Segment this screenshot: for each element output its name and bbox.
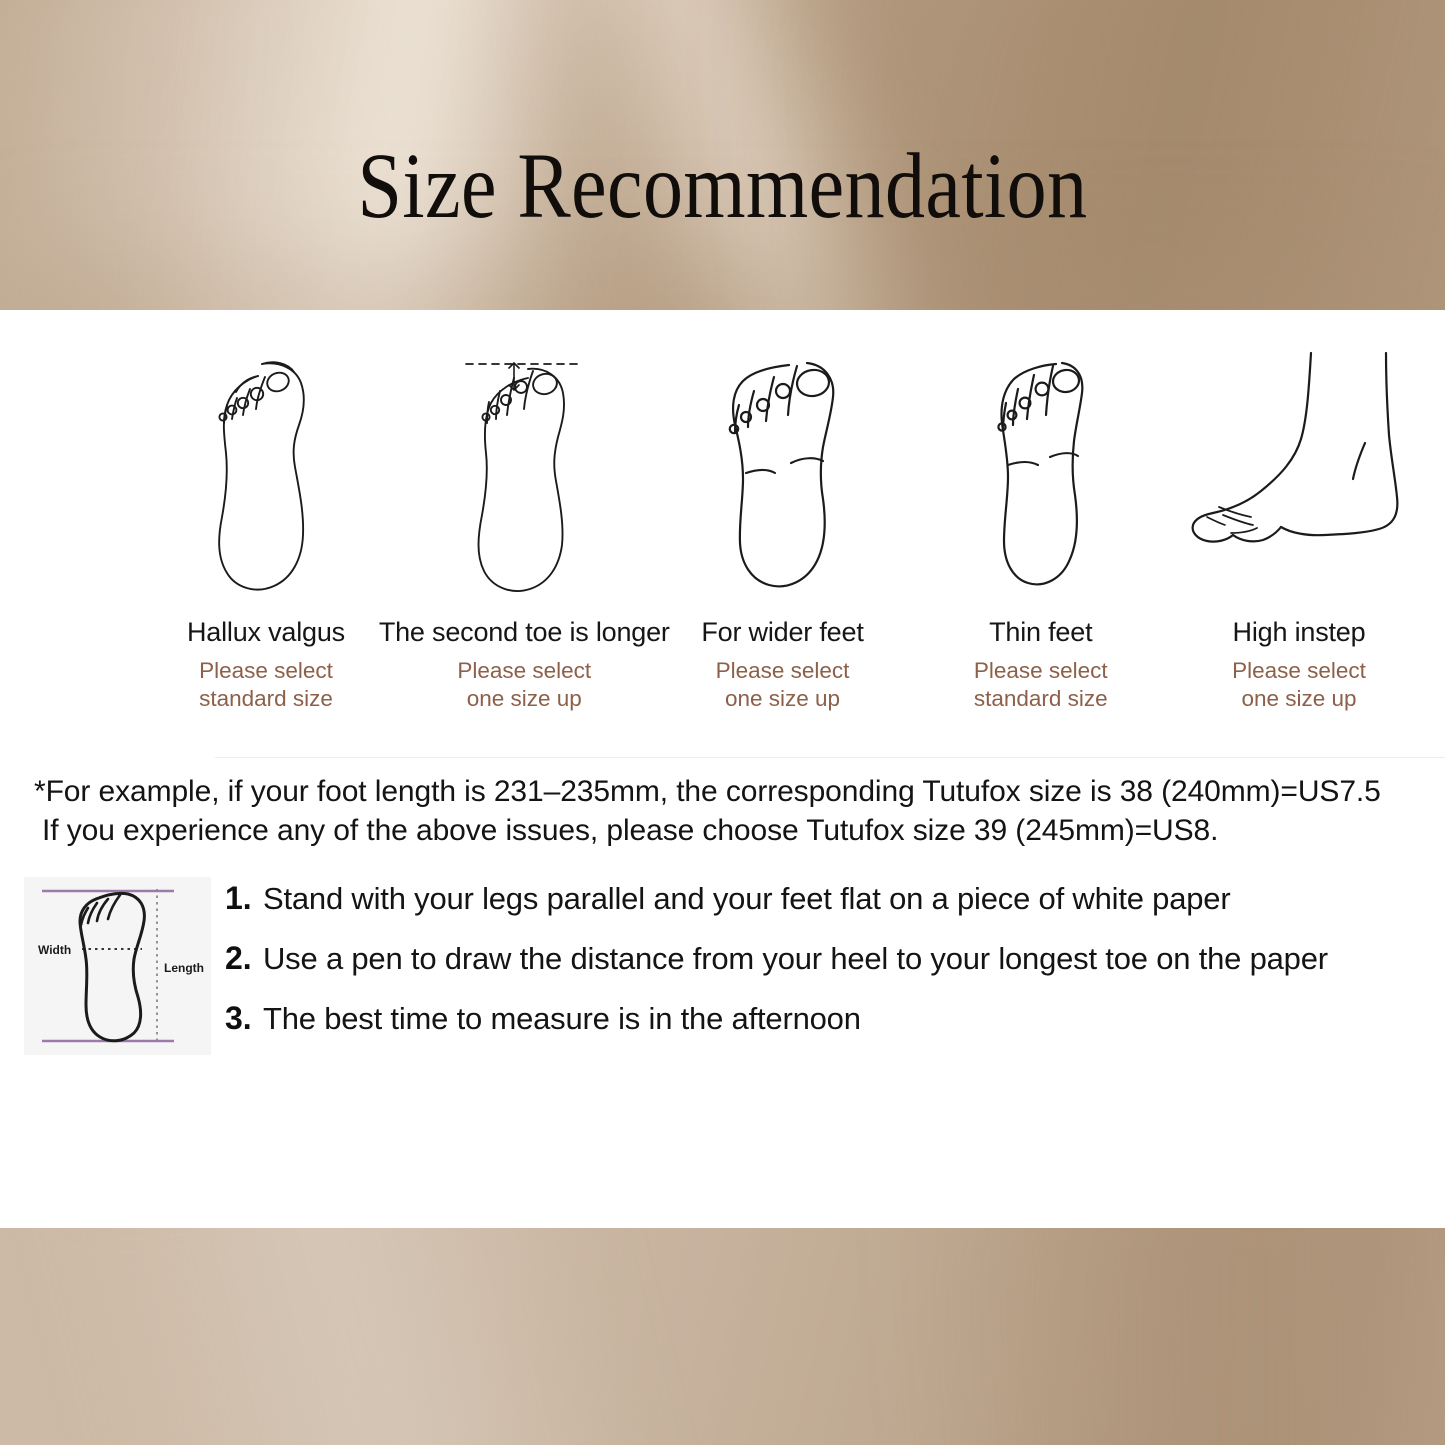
advice-line-2: one size up	[725, 686, 840, 711]
foot-type-advice: Please select standard size	[974, 657, 1108, 713]
footprint-hallux-valgus-icon	[200, 345, 332, 595]
footprint-wide-icon	[713, 345, 853, 595]
foot-type-list: Hallux valgus Please select standard siz…	[150, 345, 1415, 713]
foot-type-second-toe-longer: The second toe is longer Please select o…	[408, 345, 640, 713]
foot-side-profile-high-instep-icon	[1183, 345, 1415, 595]
example-line-1: *For example, if your foot length is 231…	[34, 772, 1424, 811]
foot-type-advice: Please select one size up	[457, 657, 591, 713]
step-item: 3. The best time to measure is in the af…	[225, 1000, 1415, 1038]
width-label: Width	[38, 943, 71, 957]
foot-type-advice: Please select standard size	[199, 657, 333, 713]
foot-type-advice: Please select one size up	[1232, 657, 1366, 713]
advice-line-2: one size up	[1241, 686, 1356, 711]
foot-type-title: High instep	[1233, 617, 1366, 648]
foot-type-thin-feet: Thin feet Please select standard size	[925, 345, 1157, 713]
footprint-second-toe-longer-icon	[458, 345, 590, 595]
example-line-2: If you experience any of the above issue…	[34, 811, 1424, 850]
example-note: *For example, if your foot length is 231…	[34, 772, 1424, 850]
foot-type-title: For wider feet	[701, 617, 863, 648]
step-number: 2.	[225, 940, 263, 977]
advice-line-1: Please select	[457, 658, 591, 683]
section-divider	[215, 757, 1445, 758]
foot-type-title: Hallux valgus	[187, 617, 345, 648]
advice-line-2: standard size	[199, 686, 333, 711]
foot-type-title: Thin feet	[989, 617, 1092, 648]
advice-line-2: one size up	[467, 686, 582, 711]
step-number: 1.	[225, 880, 263, 917]
foot-type-advice: Please select one size up	[716, 657, 850, 713]
step-text: The best time to measure is in the after…	[263, 1000, 861, 1038]
step-text: Stand with your legs parallel and your f…	[263, 880, 1230, 918]
foot-type-wider-feet: For wider feet Please select one size up	[667, 345, 899, 713]
advice-line-1: Please select	[1232, 658, 1366, 683]
footer-banner	[0, 1228, 1445, 1445]
step-number: 3.	[225, 1000, 263, 1037]
advice-line-1: Please select	[974, 658, 1108, 683]
foot-type-high-instep: High instep Please select one size up	[1183, 345, 1415, 713]
advice-line-1: Please select	[199, 658, 333, 683]
length-label: Length	[164, 961, 204, 975]
step-text: Use a pen to draw the distance from your…	[263, 940, 1328, 978]
advice-line-1: Please select	[716, 658, 850, 683]
step-item: 1. Stand with your legs parallel and you…	[225, 880, 1415, 918]
page-title: Size Recommendation	[101, 140, 1344, 233]
foot-measurement-diagram-icon: Width Length	[24, 877, 211, 1055]
footer-light-streak	[65, 1228, 657, 1445]
advice-line-2: standard size	[974, 686, 1108, 711]
foot-type-hallux-valgus: Hallux valgus Please select standard siz…	[150, 345, 382, 713]
step-item: 2. Use a pen to draw the distance from y…	[225, 940, 1415, 978]
footprint-thin-icon	[982, 345, 1100, 595]
measuring-steps-list: 1. Stand with your legs parallel and you…	[225, 880, 1415, 1060]
footer-shadow-streak	[920, 1228, 1445, 1445]
foot-type-title: The second toe is longer	[379, 617, 670, 648]
size-recommendation-page: Size Recommendation	[0, 0, 1445, 1445]
header-banner: Size Recommendation	[0, 0, 1445, 310]
